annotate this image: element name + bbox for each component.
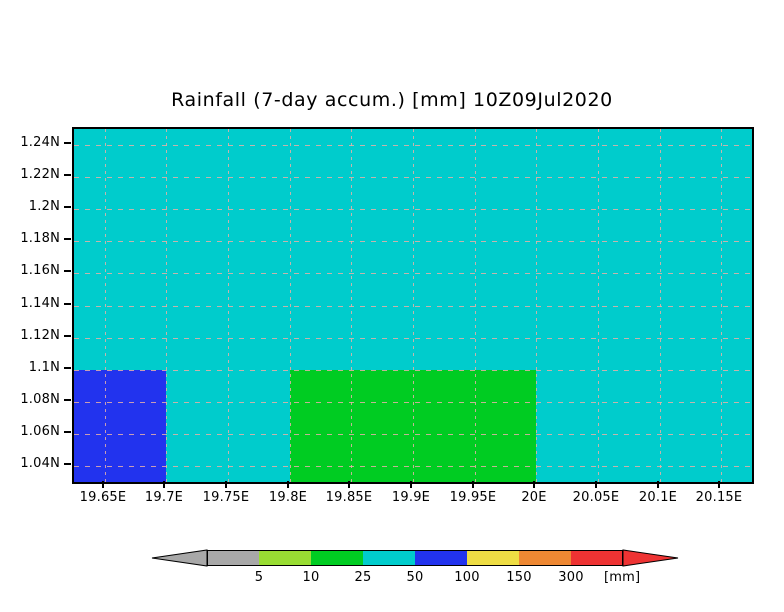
colorbar-boundary-label: 25 — [355, 570, 372, 585]
gridline-horizontal — [74, 209, 752, 210]
page-title: Rainfall (7-day accum.) [mm] 10Z09Jul202… — [0, 89, 784, 111]
colorbar-arrow — [152, 550, 207, 566]
y-axis-tick — [64, 335, 71, 337]
y-axis-label-wrap: 1.24N — [0, 135, 60, 149]
gridline-horizontal — [74, 402, 752, 403]
y-axis-tick — [64, 174, 71, 176]
x-axis-label: 19.75E — [203, 490, 250, 505]
y-axis-tick — [64, 238, 71, 240]
gridline-horizontal — [74, 466, 752, 467]
y-axis-label-wrap: 1.04N — [0, 456, 60, 470]
gridline-horizontal — [74, 273, 752, 274]
x-axis-tick — [287, 481, 289, 488]
y-axis-label-wrap: 1.12N — [0, 328, 60, 342]
y-axis-tick — [64, 206, 71, 208]
y-axis-tick — [64, 142, 71, 144]
x-axis-tick — [163, 481, 165, 488]
colorbar-boundary-label: 150 — [506, 570, 531, 585]
y-axis-label: 1.2N — [29, 199, 60, 214]
y-axis-label: 1.08N — [20, 392, 60, 407]
colorbar-boundary-label: 10 — [303, 570, 320, 585]
colorbar-segment — [571, 550, 623, 566]
gridline-horizontal — [74, 177, 752, 178]
y-axis-label-wrap: 1.2N — [0, 199, 60, 213]
y-axis-tick — [64, 463, 71, 465]
colorbar-boundary-label: 100 — [454, 570, 479, 585]
y-axis-tick — [64, 399, 71, 401]
y-axis-label: 1.16N — [20, 263, 60, 278]
colorbar-boundary-label: 50 — [407, 570, 424, 585]
colorbar-segment — [259, 550, 311, 566]
x-axis-label: 20.05E — [573, 490, 620, 505]
y-axis-label-wrap: 1.06N — [0, 424, 60, 438]
y-axis-label: 1.22N — [20, 167, 60, 182]
x-axis-tick — [225, 481, 227, 488]
x-axis-tick — [102, 481, 104, 488]
y-axis-tick — [64, 270, 71, 272]
x-axis-label: 19.65E — [80, 490, 127, 505]
x-axis-label: 19.85E — [326, 490, 373, 505]
plot-area — [72, 127, 754, 484]
y-axis-label: 1.24N — [20, 135, 60, 150]
gridline-horizontal — [74, 241, 752, 242]
colorbar-segment — [363, 550, 415, 566]
colorbar-segment — [467, 550, 519, 566]
x-axis-tick — [348, 481, 350, 488]
x-axis-tick — [410, 481, 412, 488]
x-axis-tick — [595, 481, 597, 488]
gridline-horizontal — [74, 434, 752, 435]
colorbar-extend-arrows — [0, 540, 784, 600]
colorbar-unit-label: [mm] — [604, 570, 640, 585]
colorbar-legend: [mm] 5102550100150300 — [0, 540, 784, 600]
y-axis-label: 1.04N — [20, 456, 60, 471]
x-axis-label: 20E — [521, 490, 546, 505]
y-axis-label-wrap: 1.22N — [0, 167, 60, 181]
y-axis-label: 1.12N — [20, 328, 60, 343]
x-axis-label: 20.15E — [696, 490, 743, 505]
x-axis-label: 19.7E — [145, 490, 183, 505]
colorbar-boundary-label: 5 — [255, 570, 263, 585]
gridline-horizontal — [74, 145, 752, 146]
colorbar-segment — [207, 550, 259, 566]
y-axis-label: 1.18N — [20, 231, 60, 246]
y-axis-label-wrap: 1.16N — [0, 263, 60, 277]
gridline-horizontal — [74, 306, 752, 307]
colorbar-segment — [519, 550, 571, 566]
x-axis-label: 19.9E — [392, 490, 430, 505]
y-axis-label-wrap: 1.08N — [0, 392, 60, 406]
colorbar-arrow — [623, 550, 678, 566]
y-axis-label: 1.14N — [20, 296, 60, 311]
x-axis-label: 19.8E — [269, 490, 307, 505]
y-axis-label: 1.1N — [29, 360, 60, 375]
colorbar-strip — [207, 550, 623, 566]
y-axis-label-wrap: 1.14N — [0, 296, 60, 310]
y-axis-tick — [64, 431, 71, 433]
plot-canvas — [74, 129, 752, 482]
x-axis-label: 20.1E — [639, 490, 677, 505]
x-axis-tick — [657, 481, 659, 488]
y-axis-tick — [64, 367, 71, 369]
colorbar-segment — [415, 550, 467, 566]
x-axis-tick — [533, 481, 535, 488]
x-axis-label: 19.95E — [450, 490, 497, 505]
gridline-horizontal — [74, 370, 752, 371]
colorbar-boundary-label: 300 — [558, 570, 583, 585]
y-axis-tick — [64, 303, 71, 305]
gridline-horizontal — [74, 338, 752, 339]
y-axis-label-wrap: 1.1N — [0, 360, 60, 374]
y-axis-label-wrap: 1.18N — [0, 231, 60, 245]
colorbar-segment — [311, 550, 363, 566]
x-axis-tick — [718, 481, 720, 488]
y-axis-label: 1.06N — [20, 424, 60, 439]
x-axis-tick — [472, 481, 474, 488]
